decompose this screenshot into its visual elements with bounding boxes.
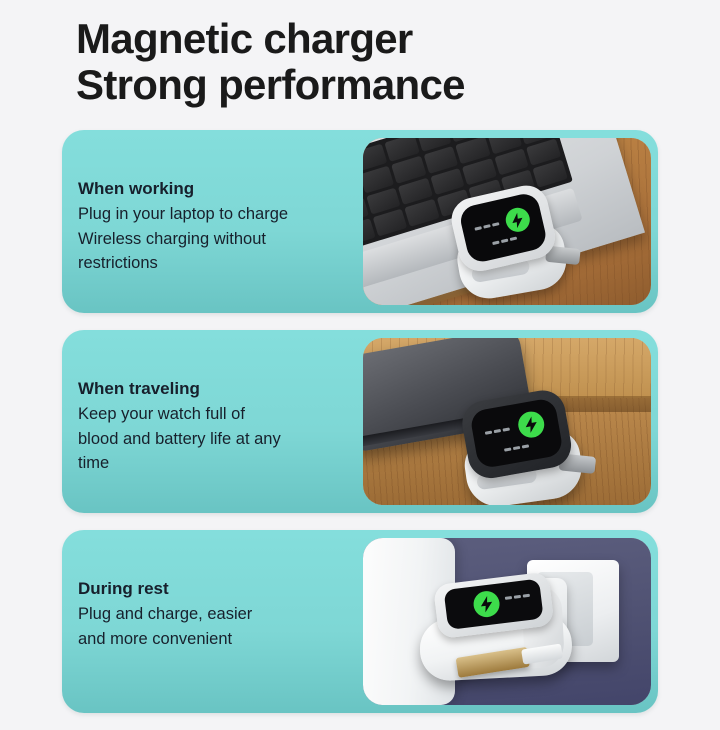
magnetic-charger-dock [416,570,582,688]
feature-card-list: When working Plug in your laptop to char… [62,130,658,730]
product-photo-phone-scene [363,338,651,505]
feature-card-during-rest: During rest Plug and charge, easier and … [62,530,658,713]
card-body-line: Plug and charge, easier [78,602,368,627]
magnetic-charger-dock [452,385,602,505]
card-body-line: time [78,451,368,476]
card-body: Plug and charge, easier and more conveni… [78,602,368,651]
card-text-block: When traveling Keep your watch full of b… [78,376,368,476]
page-title-line-1: Magnetic charger [76,16,676,62]
feature-card-when-working: When working Plug in your laptop to char… [62,130,658,313]
magnetic-charger-dock [443,180,582,305]
charging-bolt-icon [472,590,501,619]
product-photo-laptop-scene [363,138,651,305]
card-body: Keep your watch full of blood and batter… [78,402,368,476]
page-title: Magnetic charger Strong performance [76,16,676,108]
smartwatch-screen [444,579,544,630]
product-photo-wall-outlet-scene [363,538,651,705]
card-body-line: Wireless charging without [78,227,368,252]
card-body-line: and more convenient [78,627,368,652]
watch-progress-bars [474,222,499,231]
smartwatch-screen [469,397,564,469]
card-text-block: During rest Plug and charge, easier and … [78,576,368,651]
charging-bolt-icon [516,410,546,440]
card-title: During rest [78,576,368,601]
watch-progress-bars [485,427,510,434]
smartwatch-screen [458,191,549,265]
watch-progress-bars [504,444,529,451]
charging-bolt-icon [503,205,532,234]
card-title: When working [78,176,368,201]
card-body-line: blood and battery life at any [78,427,368,452]
card-body-line: Plug in your laptop to charge [78,202,368,227]
card-body: Plug in your laptop to charge Wireless c… [78,202,368,276]
card-body-line: restrictions [78,251,368,276]
watch-progress-bars [505,594,530,600]
watch-progress-bars [492,237,517,246]
card-body-line: Keep your watch full of [78,402,368,427]
page-title-line-2: Strong performance [76,62,676,108]
card-text-block: When working Plug in your laptop to char… [78,176,368,276]
feature-card-when-traveling: When traveling Keep your watch full of b… [62,330,658,513]
card-title: When traveling [78,376,368,401]
